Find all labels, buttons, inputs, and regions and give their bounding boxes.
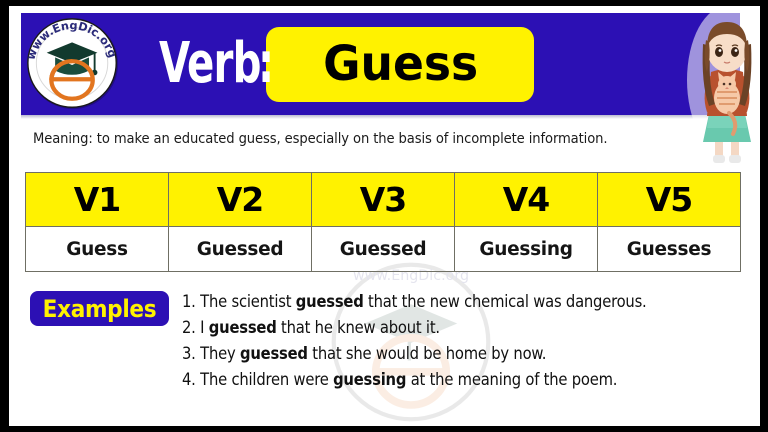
- example-pre: I: [200, 318, 209, 337]
- example-post: at the meaning of the poem.: [406, 370, 617, 389]
- examples-list: 1. The scientist guessed that the new ch…: [182, 289, 742, 393]
- verb-form-v3: Guessed: [312, 227, 455, 272]
- verb-colon: :: [258, 36, 274, 92]
- table-header-v3: V3: [312, 173, 455, 227]
- example-number: 4.: [182, 370, 196, 389]
- example-bold: guessed: [296, 292, 364, 311]
- verb-word-text: Guess: [323, 40, 478, 88]
- example-pre: The children were: [200, 370, 333, 389]
- verb-form-v5: Guesses: [598, 227, 741, 272]
- example-post: that she would be home by now.: [308, 344, 546, 363]
- verb-form-v2: Guessed: [169, 227, 312, 272]
- examples-badge-label: Examples: [43, 295, 157, 323]
- verb-word-chip: Guess: [266, 27, 534, 102]
- example-bold: guessed: [209, 318, 277, 337]
- example-pre: The scientist: [200, 292, 296, 311]
- table-header-v4: V4: [455, 173, 598, 227]
- list-item: 2. I guessed that he knew about it.: [182, 315, 742, 341]
- banner-shadow: [21, 115, 740, 119]
- example-post: that the new chemical was dangerous.: [364, 292, 647, 311]
- table-header-v5: V5: [598, 173, 741, 227]
- list-item: 4. The children were guessing at the mea…: [182, 367, 742, 393]
- page-title: Verb : Guess: [159, 20, 669, 108]
- list-item: 1. The scientist guessed that the new ch…: [182, 289, 742, 315]
- screenshot-root: www.EngDic.org: [0, 0, 768, 432]
- example-number: 1.: [182, 292, 196, 311]
- list-item: 3. They guessed that she would be home b…: [182, 341, 742, 367]
- example-bold: guessed: [240, 344, 308, 363]
- example-pre: They: [200, 344, 240, 363]
- example-number: 2.: [182, 318, 196, 337]
- girl-holding-cat-illustration-icon: [687, 10, 760, 168]
- example-number: 3.: [182, 344, 196, 363]
- example-post: that he knew about it.: [277, 318, 440, 337]
- table-header-v2: V2: [169, 173, 312, 227]
- examples-badge: Examples: [30, 291, 169, 326]
- verb-label: Verb: [159, 36, 261, 92]
- table-row: Guess Guessed Guessed Guessing Guesses: [26, 227, 741, 272]
- verb-form-v4: Guessing: [455, 227, 598, 272]
- table-header-row: V1 V2 V3 V4 V5: [26, 173, 741, 227]
- content-card: www.EngDic.org: [9, 6, 760, 426]
- example-bold: guessing: [333, 370, 406, 389]
- meaning-text: Meaning: to make an educated guess, espe…: [33, 130, 733, 147]
- table-header-v1: V1: [26, 173, 169, 227]
- verb-forms-table: V1 V2 V3 V4 V5 Guess Guessed Guessed Gue…: [25, 172, 741, 272]
- engdic-logo-icon[interactable]: www.EngDic.org: [26, 17, 120, 111]
- verb-form-v1: Guess: [26, 227, 169, 272]
